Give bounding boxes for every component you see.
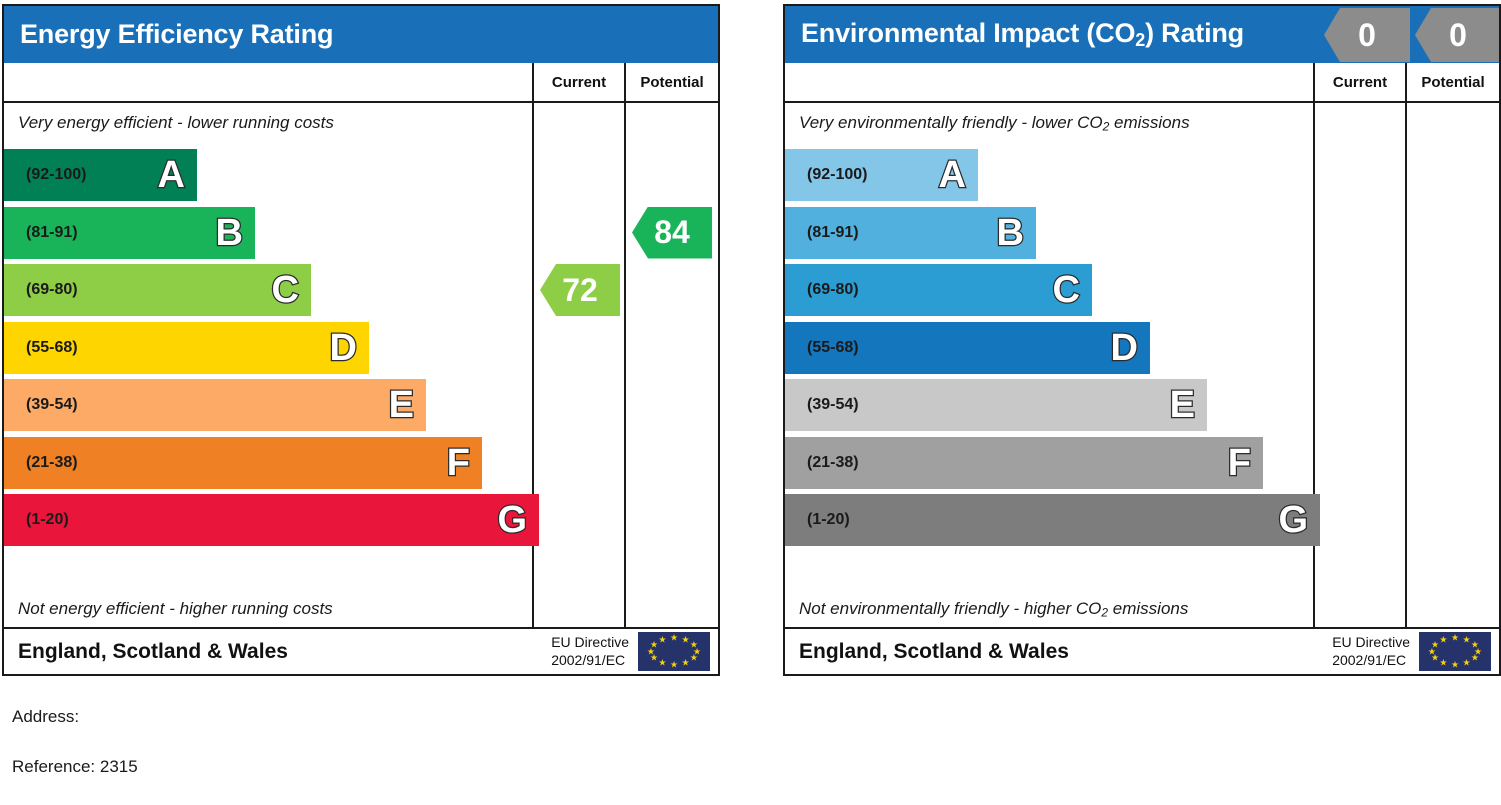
co2-caption-top-suffix: emissions bbox=[1109, 113, 1189, 132]
band-a: (92-100)A bbox=[785, 149, 978, 201]
co2-current-column bbox=[1315, 103, 1407, 627]
energy-current-header: Current bbox=[534, 63, 626, 101]
energy-footer: England, Scotland & Wales EU Directive 2… bbox=[4, 627, 718, 674]
eu-star-icon: ★ bbox=[1431, 640, 1439, 649]
eu-star-icon: ★ bbox=[1462, 636, 1470, 645]
band-range-d: (55-68) bbox=[4, 339, 78, 357]
energy-current-rating-arrow: 72 bbox=[540, 264, 620, 316]
band-range-b: (81-91) bbox=[785, 224, 859, 242]
eu-star-icon: ★ bbox=[681, 658, 689, 667]
band-letter-d: D bbox=[330, 329, 357, 367]
energy-directive-line1: EU Directive bbox=[551, 634, 629, 652]
energy-column-header-row: Current Potential bbox=[4, 63, 718, 103]
band-range-c: (69-80) bbox=[785, 281, 859, 299]
co2-bands-column: Very environmentally friendly - lower CO… bbox=[785, 103, 1315, 627]
band-letter-a: A bbox=[158, 156, 185, 194]
band-letter-f: F bbox=[1228, 444, 1251, 482]
co2-current-header: Current bbox=[1315, 63, 1407, 101]
energy-footer-region: England, Scotland & Wales bbox=[4, 640, 551, 664]
band-c: (69-80)C bbox=[4, 264, 311, 316]
eu-star-icon: ★ bbox=[681, 636, 689, 645]
eu-star-icon: ★ bbox=[650, 640, 658, 649]
energy-directive-line2: 2002/91/EC bbox=[551, 652, 629, 670]
co2-header-spacer bbox=[785, 63, 1315, 101]
eu-star-icon: ★ bbox=[658, 658, 666, 667]
co2-caption-top: Very environmentally friendly - lower CO… bbox=[799, 113, 1190, 133]
band-range-d: (55-68) bbox=[785, 339, 859, 357]
co2-potential-header: Potential bbox=[1407, 63, 1499, 101]
co2-caption-bottom: Not environmentally friendly - higher CO… bbox=[799, 599, 1188, 619]
band-letter-g: G bbox=[497, 501, 527, 539]
co2-caption-top-prefix: Very environmentally friendly - lower CO bbox=[799, 113, 1103, 132]
band-b: (81-91)B bbox=[785, 207, 1036, 259]
band-range-a: (92-100) bbox=[785, 166, 867, 184]
eu-star-icon: ★ bbox=[670, 660, 678, 669]
band-f: (21-38)F bbox=[4, 437, 482, 489]
band-c: (69-80)C bbox=[785, 264, 1092, 316]
eu-star-icon: ★ bbox=[1451, 660, 1459, 669]
co2-caption-bottom-suffix: emissions bbox=[1108, 599, 1188, 618]
band-range-g: (1-20) bbox=[4, 511, 69, 529]
energy-title: Energy Efficiency Rating bbox=[4, 19, 333, 50]
band-range-c: (69-80) bbox=[4, 281, 78, 299]
energy-potential-column: 84 bbox=[626, 103, 718, 627]
environmental-impact-certificate: Environmental Impact (CO2) Rating Curren… bbox=[783, 4, 1501, 676]
band-g: (1-20)G bbox=[785, 494, 1320, 546]
band-e: (39-54)E bbox=[785, 379, 1207, 431]
energy-bands-column: Very energy efficient - lower running co… bbox=[4, 103, 534, 627]
band-letter-g: G bbox=[1278, 501, 1308, 539]
band-f: (21-38)F bbox=[785, 437, 1263, 489]
reference-label: Reference: 2315 bbox=[12, 757, 138, 777]
co2-directive-line2: 2002/91/EC bbox=[1332, 652, 1410, 670]
energy-body: Very energy efficient - lower running co… bbox=[4, 103, 718, 627]
band-letter-b: B bbox=[997, 214, 1024, 252]
band-g: (1-20)G bbox=[4, 494, 539, 546]
eu-star-icon: ★ bbox=[690, 654, 698, 663]
co2-body: Very environmentally friendly - lower CO… bbox=[785, 103, 1499, 627]
co2-directive-line1: EU Directive bbox=[1332, 634, 1410, 652]
energy-current-column: 72 bbox=[534, 103, 626, 627]
band-b: (81-91)B bbox=[4, 207, 255, 259]
band-range-b: (81-91) bbox=[4, 224, 78, 242]
co2-title-subscript: 2 bbox=[1135, 30, 1145, 50]
band-range-a: (92-100) bbox=[4, 166, 86, 184]
epc-certificates-page: Energy Efficiency Rating Current Potenti… bbox=[0, 0, 1501, 805]
energy-caption-bottom: Not energy efficient - higher running co… bbox=[18, 599, 333, 619]
band-range-e: (39-54) bbox=[4, 396, 78, 414]
band-d: (55-68)D bbox=[4, 322, 369, 374]
band-a: (92-100)A bbox=[4, 149, 197, 201]
co2-footer-region: England, Scotland & Wales bbox=[785, 640, 1332, 664]
co2-potential-rating-arrow: 0 bbox=[1415, 8, 1501, 62]
co2-current-rating-arrow: 0 bbox=[1324, 8, 1410, 62]
band-letter-a: A bbox=[939, 156, 966, 194]
energy-efficiency-certificate: Energy Efficiency Rating Current Potenti… bbox=[2, 4, 720, 676]
co2-column-header-row: Current Potential bbox=[785, 63, 1499, 103]
eu-star-icon: ★ bbox=[1439, 636, 1447, 645]
energy-caption-top: Very energy efficient - lower running co… bbox=[18, 113, 334, 133]
co2-caption-bottom-prefix: Not environmentally friendly - higher CO bbox=[799, 599, 1101, 618]
band-e: (39-54)E bbox=[4, 379, 426, 431]
band-letter-d: D bbox=[1111, 329, 1138, 367]
eu-star-icon: ★ bbox=[658, 636, 666, 645]
band-range-f: (21-38) bbox=[785, 454, 859, 472]
energy-potential-rating-arrow: 84 bbox=[632, 207, 712, 259]
co2-footer-directive: EU Directive 2002/91/EC bbox=[1332, 634, 1419, 669]
eu-flag-icon: ★★★★★★★★★★★★ bbox=[1419, 632, 1491, 671]
energy-footer-directive: EU Directive 2002/91/EC bbox=[551, 634, 638, 669]
co2-potential-column bbox=[1407, 103, 1499, 627]
band-letter-f: F bbox=[447, 444, 470, 482]
co2-footer: England, Scotland & Wales EU Directive 2… bbox=[785, 627, 1499, 674]
band-letter-e: E bbox=[1170, 386, 1195, 424]
co2-title-suffix: ) Rating bbox=[1145, 18, 1244, 48]
eu-star-icon: ★ bbox=[670, 634, 678, 643]
band-letter-b: B bbox=[216, 214, 243, 252]
eu-star-icon: ★ bbox=[1462, 658, 1470, 667]
band-letter-c: C bbox=[1053, 271, 1080, 309]
energy-potential-header: Potential bbox=[626, 63, 718, 101]
band-range-f: (21-38) bbox=[4, 454, 78, 472]
band-letter-e: E bbox=[389, 386, 414, 424]
eu-flag-icon: ★★★★★★★★★★★★ bbox=[638, 632, 710, 671]
band-d: (55-68)D bbox=[785, 322, 1150, 374]
energy-title-bar: Energy Efficiency Rating bbox=[4, 6, 718, 63]
address-label: Address: bbox=[12, 707, 79, 727]
band-range-g: (1-20) bbox=[785, 511, 850, 529]
eu-star-icon: ★ bbox=[1439, 658, 1447, 667]
band-letter-c: C bbox=[272, 271, 299, 309]
co2-title: Environmental Impact (CO2) Rating bbox=[785, 18, 1244, 51]
co2-title-prefix: Environmental Impact (CO bbox=[801, 18, 1135, 48]
eu-star-icon: ★ bbox=[1471, 654, 1479, 663]
energy-header-spacer bbox=[4, 63, 534, 101]
band-range-e: (39-54) bbox=[785, 396, 859, 414]
eu-star-icon: ★ bbox=[1451, 634, 1459, 643]
